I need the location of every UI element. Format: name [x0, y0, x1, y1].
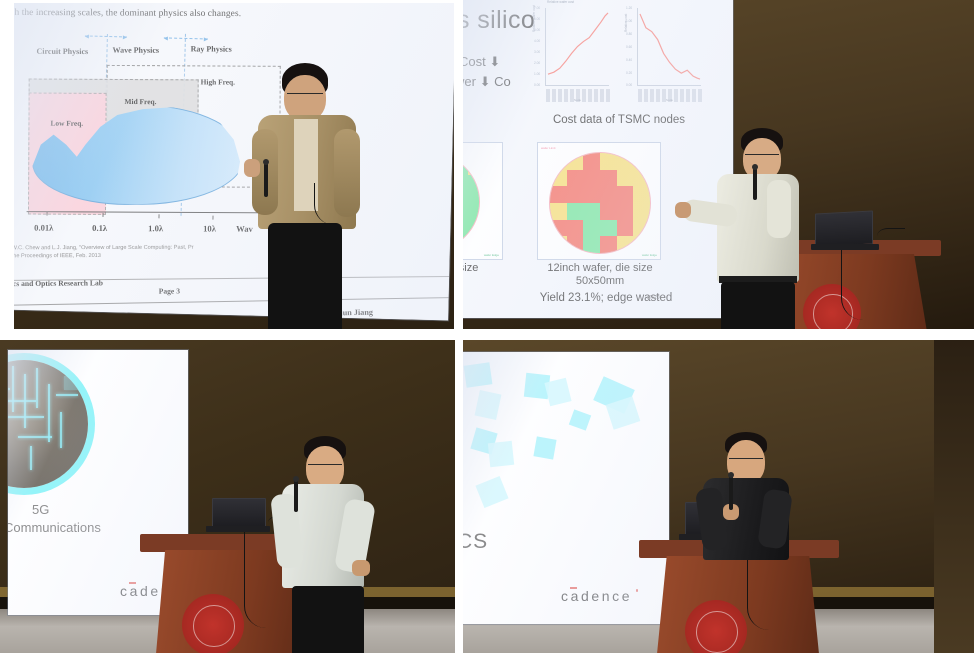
regime-label-circuit: Circuit Physics — [36, 47, 88, 56]
podium-cable — [244, 532, 266, 628]
decorative-cube — [475, 390, 502, 420]
projection-screen-tr: s silico Cost ⬇ wer ⬇ Co Relative wafer … — [463, 0, 733, 318]
down-arrow-icon: ⬇ — [480, 74, 491, 89]
wafer-map-right: wafer Limit wafer Edge — [537, 142, 661, 260]
die-grid — [463, 154, 479, 250]
presenter-arm-left — [767, 180, 791, 238]
y-tick-5: 1.00 — [626, 19, 632, 23]
laptop-lid — [212, 498, 266, 528]
photo-panel-top-left[interactable]: h the increasing scales, the dominant ph… — [14, 3, 454, 329]
handheld-microphone — [294, 480, 298, 512]
presenter-hand-pointing — [675, 202, 691, 218]
x-tick-1 — [102, 213, 103, 217]
regime-label-wave: Wave Physics — [113, 46, 159, 55]
presenter-glasses — [308, 464, 342, 465]
presenter-hand-gesture — [244, 159, 260, 177]
presenter-figure-br — [699, 432, 807, 560]
chart-line-path — [638, 8, 701, 85]
y-tick-4: 0.80 — [626, 32, 632, 36]
wafer-edge-label: wafer Edge — [484, 253, 499, 257]
y-tick-3: 0.60 — [626, 45, 632, 49]
y-tick-0: 0.00 — [626, 83, 632, 87]
bullet-cost: Cost ⬇ — [463, 54, 500, 70]
url-fragment-right: s%20- — [647, 295, 661, 301]
x-label-2: 1.0λ — [148, 223, 163, 233]
logo-macron — [129, 582, 136, 584]
lecture-scene-tl: h the increasing scales, the dominant ph… — [14, 3, 454, 329]
presenter-trousers — [268, 223, 342, 329]
icon-label-line-1: 5G — [32, 502, 49, 517]
charts-caption: Cost data of TSMC nodes — [519, 114, 719, 126]
lecture-scene-tr: s silico Cost ⬇ wer ⬇ Co Relative wafer … — [463, 0, 974, 329]
y-tick-5: 5.00 — [534, 28, 540, 32]
presenter-trousers — [292, 586, 364, 653]
chart-x-tick-marks: Node — [546, 86, 609, 102]
bullet-cost-label: Cost — [463, 54, 486, 69]
x-label-3: 10λ — [203, 223, 216, 233]
decorative-cube — [544, 378, 571, 407]
slide-heading: s silico — [463, 6, 535, 35]
down-arrow-icon: ⬇ — [489, 54, 500, 69]
circuit-board-icon — [8, 360, 88, 488]
slide-silicon-cost: s silico Cost ⬇ wer ⬇ Co Relative wafer … — [463, 0, 733, 318]
region-label-high-freq: High Freq. — [201, 77, 235, 86]
decorative-cube — [569, 409, 591, 430]
wafer-limit-label: wafer Limit — [541, 146, 556, 150]
slide-footer-lab: etics and Optics Research Lab — [14, 278, 103, 288]
presenter-figure-tl — [242, 63, 372, 329]
lecture-scene-br: CS cadence — [463, 340, 974, 653]
y-tick-1: 1.00 — [534, 72, 540, 76]
presenter-arm-right — [334, 129, 360, 217]
photo-panel-bottom-right[interactable]: CS cadence — [463, 340, 974, 653]
region-label-low-freq: Low Freq. — [50, 119, 83, 128]
slide-footer-rule-2 — [14, 297, 448, 306]
chart-axes — [637, 8, 701, 86]
handheld-microphone — [729, 476, 733, 510]
bullet-power-label: wer — [463, 74, 476, 89]
presenter-glasses — [729, 458, 763, 459]
die-grid — [550, 153, 650, 253]
region-label-mid-freq: Mid Freq. — [125, 97, 157, 106]
photo-collage: h the increasing scales, the dominant ph… — [0, 0, 974, 653]
wafer-circle — [549, 152, 651, 254]
podium-cable — [841, 250, 863, 320]
wall-right-panel — [934, 340, 974, 653]
wafer-edge-label: wafer Edge — [642, 253, 657, 257]
decorative-cube — [488, 441, 514, 467]
decorative-cube — [475, 476, 508, 508]
chart-x-axis-label: Node — [666, 98, 673, 102]
podium-emblem — [685, 600, 747, 653]
wafer-caption-line-2: 50x50mm — [523, 275, 677, 288]
cadence-logo: cadence — [561, 588, 632, 604]
logo-macron — [570, 587, 577, 589]
presenter-figure-bl — [280, 436, 390, 653]
y-tick-7: 7.00 — [534, 6, 540, 10]
y-tick-6: 1.20 — [626, 6, 632, 10]
chart-x-tick-marks: Node — [638, 86, 701, 102]
y-tick-1: 0.20 — [626, 71, 632, 75]
tsmc-cost-charts: Relative wafer cost Relative wafer cost … — [533, 0, 703, 116]
presenter-figure-tr — [709, 128, 829, 329]
wafer-map-left: wafer Edge — [463, 142, 503, 260]
y-tick-6: 6.00 — [534, 17, 540, 21]
yield-annotation: Yield 23.1%; edge wasted — [481, 292, 731, 304]
chart-axes — [545, 8, 609, 86]
y-tick-4: 4.00 — [534, 39, 540, 43]
x-tick-0 — [46, 212, 47, 216]
wafer-circle — [463, 153, 480, 251]
circuit-traces — [8, 360, 88, 488]
podium-emblem — [182, 594, 244, 653]
y-tick-3: 3.00 — [534, 50, 540, 54]
y-tick-2: 2.00 — [534, 61, 540, 65]
chart-relative-cost: Relative cost 1.20 1.00 0.80 0.60 0.40 0… — [625, 4, 703, 108]
x-label-0: 0.01λ — [34, 223, 53, 233]
decorative-cube — [464, 362, 493, 387]
slide-text-fragment: CS — [463, 530, 488, 554]
handheld-microphone — [264, 163, 268, 197]
slide-heading: h the increasing scales, the dominant ph… — [14, 8, 449, 20]
y-tick-0: 0.00 — [534, 83, 540, 87]
gooseneck-microphone — [877, 228, 905, 248]
logo-registered-dot — [636, 589, 639, 592]
y-tick-2: 0.40 — [626, 58, 632, 62]
presenter-trousers — [721, 282, 795, 329]
lecture-scene-bl: 5G Communications cadence — [0, 340, 455, 653]
chart-x-axis-label: Node — [574, 98, 581, 102]
slide-footer-page: Page 3 — [159, 286, 180, 295]
presenter-glasses — [745, 154, 779, 155]
icon-label-line-2: Communications — [8, 520, 101, 535]
photo-panel-top-right[interactable]: s silico Cost ⬇ wer ⬇ Co Relative wafer … — [463, 0, 974, 329]
handheld-microphone — [753, 168, 757, 200]
bullet-power-suffix: Co — [494, 74, 511, 89]
wafer-right-caption: 12inch wafer, die size 50x50mm — [523, 262, 677, 288]
wafer-left-caption: e size — [463, 262, 507, 275]
wafer-caption-line-1: 12inch wafer, die size — [523, 262, 677, 275]
x-label-1: 0.1λ — [92, 223, 107, 233]
decorative-arc — [8, 562, 34, 615]
regime-label-ray: Ray Physics — [191, 44, 232, 53]
x-tick-3 — [212, 216, 213, 220]
slide-physics-scales: h the increasing scales, the dominant ph… — [14, 3, 454, 320]
photo-panel-bottom-left[interactable]: 5G Communications cadence — [0, 340, 455, 653]
chart-line-path — [546, 8, 609, 85]
presenter-glasses — [287, 93, 323, 94]
chart-relative-wafer-cost: Relative wafer cost Relative wafer cost … — [533, 4, 611, 108]
chart-title: Relative wafer cost — [547, 0, 574, 4]
decorative-cube — [533, 436, 556, 459]
bullet-power: wer ⬇ Co — [463, 74, 511, 90]
projection-screen-tl: h the increasing scales, the dominant ph… — [14, 3, 454, 320]
x-tick-2 — [158, 214, 159, 218]
presenter-hand-gesture — [352, 560, 370, 576]
cadence-logo-text: cadence — [561, 588, 632, 604]
